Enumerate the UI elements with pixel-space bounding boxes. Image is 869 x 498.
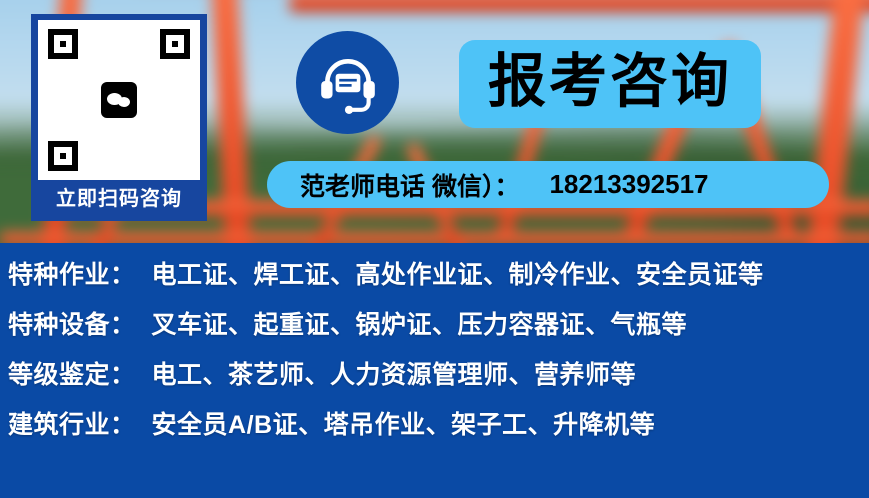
certificate-list-panel: 特种作业： 电工证、焊工证、高处作业证、制冷作业、安全员证等 特种设备： 叉车证… xyxy=(0,243,869,498)
qr-finder-top-right-icon xyxy=(160,29,190,59)
wechat-icon xyxy=(101,82,137,118)
crane-brace-low-2 xyxy=(0,232,869,243)
headset-badge xyxy=(296,31,399,134)
contact-pill[interactable]: 范老师电话 微信）： 18213392517 xyxy=(267,161,829,208)
page-title: 报考咨询 xyxy=(488,53,732,115)
category-items: 安全员A/B证、塔吊作业、架子工、升降机等 xyxy=(152,405,656,441)
contact-label: 范老师电话 微信）： xyxy=(300,167,519,203)
category-label: 特种作业： xyxy=(8,255,136,291)
qr-card-label: 立即扫码咨询 xyxy=(56,180,182,218)
list-item: 特种设备： 叉车证、起重证、锅炉证、压力容器证、气瓶等 xyxy=(0,305,869,355)
category-label: 建筑行业： xyxy=(8,405,136,441)
list-item: 特种作业： 电工证、焊工证、高处作业证、制冷作业、安全员证等 xyxy=(0,255,869,305)
qr-code-card[interactable]: 立即扫码咨询 xyxy=(31,14,207,221)
promo-banner: 立即扫码咨询 报考咨询 范老师电话 微信）： 18213392517 特种作业：… xyxy=(0,0,869,498)
title-plaque: 报考咨询 xyxy=(459,40,761,128)
category-items: 电工证、焊工证、高处作业证、制冷作业、安全员证等 xyxy=(152,255,764,291)
category-items: 电工、茶艺师、人力资源管理师、营养师等 xyxy=(152,355,637,391)
qr-finder-bottom-left-icon xyxy=(48,141,78,171)
contact-phone-number[interactable]: 18213392517 xyxy=(549,169,708,200)
list-item: 等级鉴定： 电工、茶艺师、人力资源管理师、营养师等 xyxy=(0,355,869,405)
crane-beam-top-2 xyxy=(290,0,869,12)
category-label: 等级鉴定： xyxy=(8,355,136,391)
qr-code-matrix xyxy=(46,27,192,173)
category-items: 叉车证、起重证、锅炉证、压力容器证、气瓶等 xyxy=(152,305,688,341)
list-item: 建筑行业： 安全员A/B证、塔吊作业、架子工、升降机等 xyxy=(0,405,869,455)
headset-support-icon xyxy=(315,50,381,116)
qr-finder-top-left-icon xyxy=(48,29,78,59)
category-label: 特种设备： xyxy=(8,305,136,341)
wechat-bubble-small xyxy=(118,97,130,107)
qr-code-image[interactable] xyxy=(38,20,200,180)
